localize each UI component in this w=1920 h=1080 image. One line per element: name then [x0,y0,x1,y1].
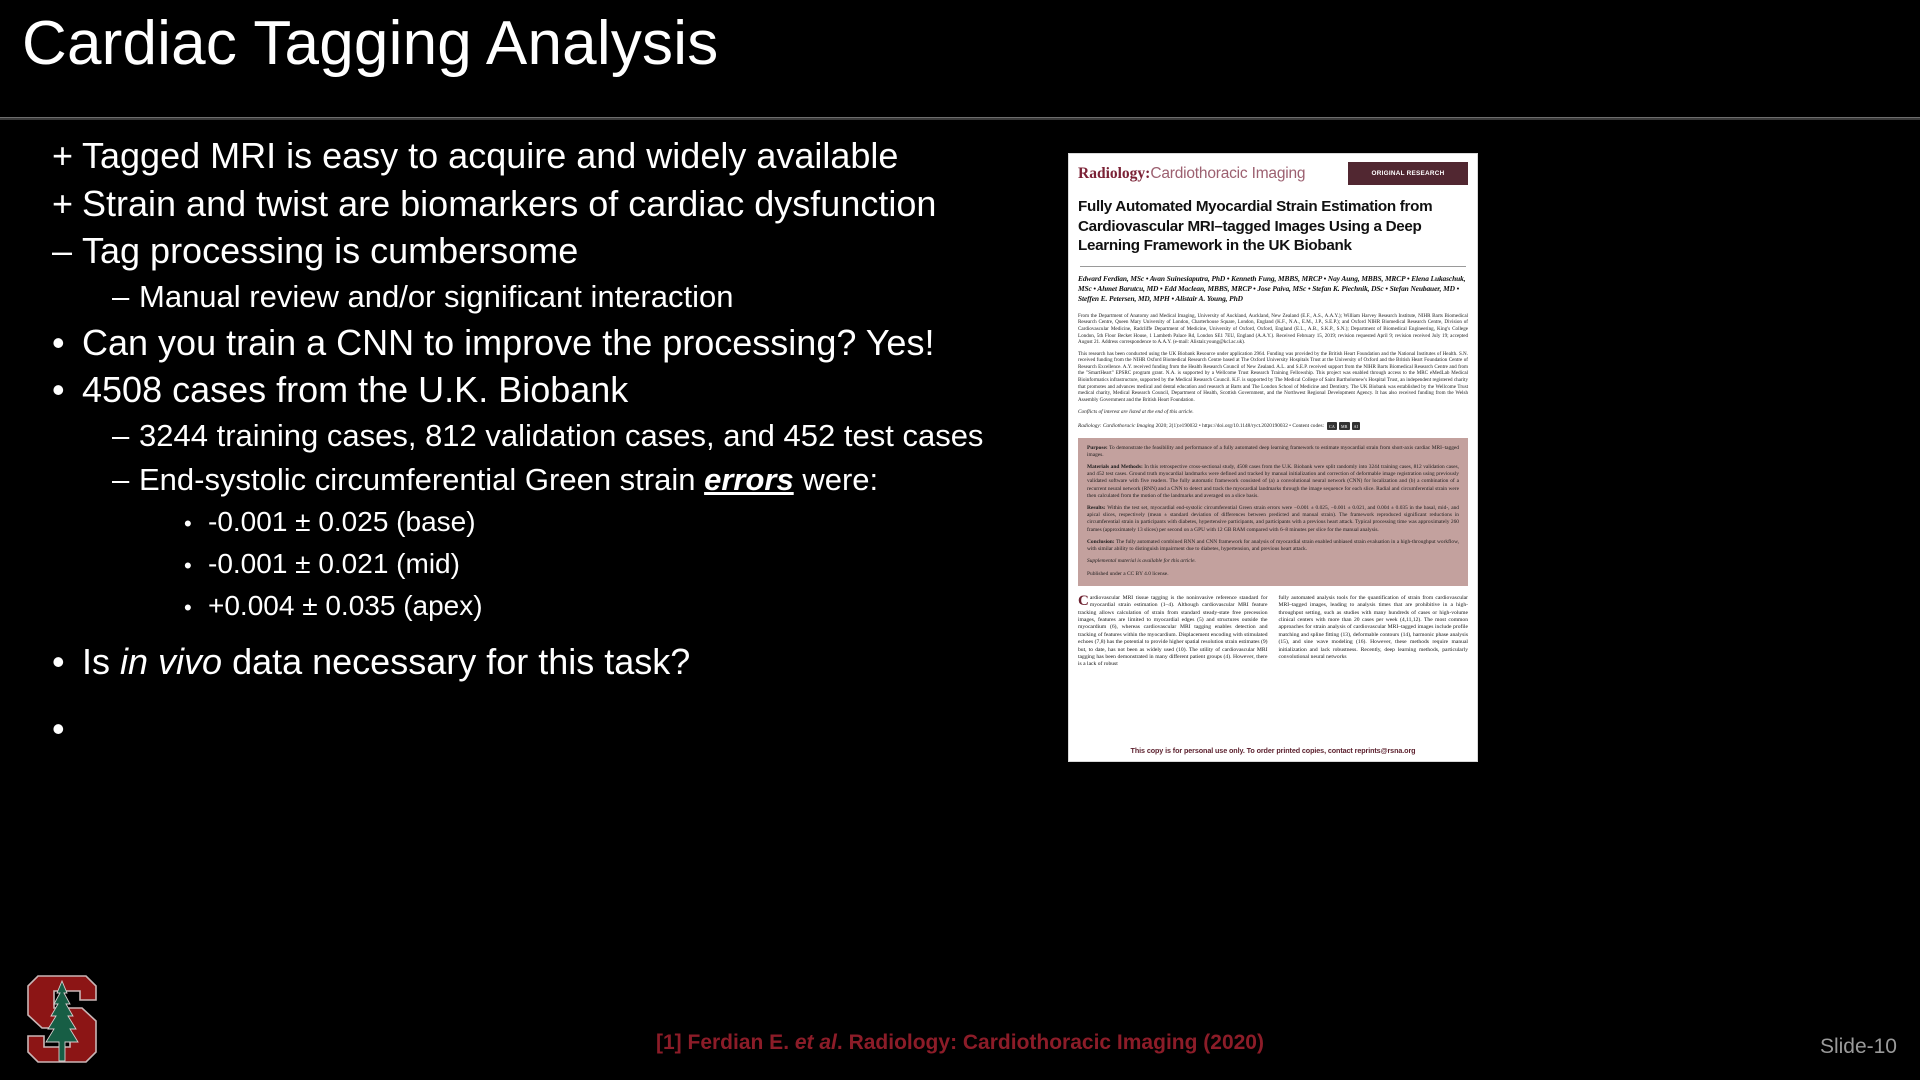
abstract-conclusion: Conclusion: The fully automated combined… [1087,539,1459,553]
paper-body-left-text: ardiovascular MRI tissue tagging is the … [1078,595,1268,668]
paper-body-left-paragraph: Cardiovascular MRI tissue tagging is the… [1078,595,1268,669]
bullet-marker: + [52,132,82,180]
bullet-text-emphasis: errors [704,462,794,497]
drop-cap: C [1078,595,1089,607]
bullet-marker: • [184,546,208,586]
citation-etal: et al [795,1031,837,1054]
bullet-item-strain-apex: • +0.004 ± 0.035 (apex) [52,586,1062,628]
bullet-item: – 3244 training cases, 812 validation ca… [52,414,1062,458]
bullet-spacer [52,685,1062,705]
bullet-marker: – [112,275,139,319]
title-divider [0,117,1920,120]
bullet-text-pre: End-systolic circumferential Green strai… [139,462,704,497]
paper-title-divider [1080,266,1466,267]
bullet-text: Manual review and/or significant interac… [139,275,733,319]
journal-brand: Radiology: [1078,165,1150,183]
bullet-text: Strain and twist are biomarkers of cardi… [82,180,936,228]
citation-journal-name: Radiology: Cardiothoracic Imaging [849,1031,1198,1054]
journal-subtitle: Cardiothoracic Imaging [1150,165,1305,183]
bullet-marker: • [52,319,82,367]
bullet-item-invivo: • Is in vivo data necessary for this tas… [52,638,1062,686]
paper-body-left: Cardiovascular MRI tissue tagging is the… [1078,595,1268,741]
content-code: AI [1352,422,1361,430]
bullet-text-emphasis: in vivo [120,641,222,682]
bullet-list: + Tagged MRI is easy to acquire and wide… [52,132,1062,753]
bullet-item: – Tag processing is cumbersome [52,227,1062,275]
citation-mid: . [837,1031,849,1054]
abstract-label: Conclusion: [1087,539,1115,545]
abstract-body: The fully automated combined RNN and CNN… [1087,539,1459,552]
bullet-marker: – [112,414,139,458]
slide-canvas: Cardiac Tagging Analysis + Tagged MRI is… [0,0,1920,1080]
bullet-marker: – [52,227,82,275]
abstract-results: Results: Within the test set, myocardial… [1087,505,1459,534]
citation-rest: 2020; 2(1):e190032 • https://doi.org/10.… [1154,424,1324,430]
bullet-text-pre: Is [82,641,120,682]
bullet-text: 3244 training cases, 812 validation case… [139,414,983,458]
bullet-marker: + [52,180,82,228]
bullet-marker: • [52,705,82,753]
bullet-marker: • [184,504,208,544]
paper-body-right: fully automated analysis tools for the q… [1279,595,1469,741]
bullet-item-errors: – End-systolic circumferential Green str… [52,458,1062,502]
abstract-purpose: Purpose: To demonstrate the feasibility … [1087,445,1459,459]
bullet-text: Tag processing is cumbersome [82,227,578,275]
bullet-text-post: were: [794,462,878,497]
citation-year: (2020) [1197,1031,1264,1054]
bullet-text: +0.004 ± 0.035 (apex) [208,586,483,626]
abstract-body: In this retrospective cross-sectional st… [1087,464,1459,499]
page-title: Cardiac Tagging Analysis [22,8,718,79]
slide-number: Slide-10 [1820,1035,1897,1059]
bullet-item: • 4508 cases from the U.K. Biobank [52,366,1062,414]
bullet-item: – Manual review and/or significant inter… [52,275,1062,319]
abstract-supplemental: Supplemental material is available for t… [1087,558,1459,565]
bullet-text: Can you train a CNN to improve the proce… [82,319,934,367]
bullet-text: 4508 cases from the U.K. Biobank [82,366,628,414]
paper-footer-notice: This copy is for personal use only. To o… [1078,741,1468,755]
bullet-text: -0.001 ± 0.025 (base) [208,502,476,542]
paper-funding: This research has been conducted using t… [1078,351,1468,404]
abstract-body: To demonstrate the feasibility and perfo… [1087,445,1459,458]
bullet-text: Is in vivo data necessary for this task? [82,638,690,686]
abstract-license: Published under a CC BY 4.0 license. [1087,571,1459,578]
citation-journal: Radiology: Cardiothoracic Imaging [1078,424,1154,430]
bullet-marker: • [52,366,82,414]
citation-prefix: [1] Ferdian E. [656,1031,795,1054]
abstract-label: Results: [1087,505,1106,511]
content-code: CA [1327,422,1337,430]
bullet-item-strain-base: • -0.001 ± 0.025 (base) [52,502,1062,544]
paper-conflicts: Conflicts of interest are listed at the … [1078,409,1468,416]
bullet-item: • Can you train a CNN to improve the pro… [52,319,1062,367]
bullet-item: + Strain and twist are biomarkers of car… [52,180,1062,228]
abstract-label: Purpose: [1087,445,1108,451]
bullet-marker: • [184,588,208,628]
bullet-text: End-systolic circumferential Green strai… [139,458,878,502]
stanford-logo [8,966,116,1074]
masthead-filler [1305,162,1348,185]
abstract-label: Materials and Methods: [1087,464,1143,470]
paper-body-right-text: fully automated analysis tools for the q… [1279,595,1469,662]
content-codes: CAMRAI [1327,422,1360,430]
reference-citation: [1] Ferdian E. et al. Radiology: Cardiot… [0,1031,1920,1055]
paper-citation-line: Radiology: Cardiothoracic Imaging 2020; … [1078,422,1468,430]
bullet-text: Tagged MRI is easy to acquire and widely… [82,132,898,180]
bullet-item-strain-mid: • -0.001 ± 0.021 (mid) [52,544,1062,586]
paper-affiliation: From the Department of Anatomy and Medic… [1078,313,1468,346]
bullet-text: -0.001 ± 0.021 (mid) [208,544,460,584]
bullet-item-empty: • [52,705,1062,753]
journal-name: Radiology:Cardiothoracic Imaging [1078,162,1305,185]
original-research-badge: ORIGINAL RESEARCH [1348,162,1468,185]
paper-body-columns: Cardiovascular MRI tissue tagging is the… [1078,595,1468,741]
content-code: MR [1339,422,1350,430]
paper-masthead: Radiology:Cardiothoracic Imaging ORIGINA… [1078,162,1468,185]
paper-authors: Edward Ferdian, MSc • Avan Suinesiaputra… [1078,274,1468,305]
paper-abstract: Purpose: To demonstrate the feasibility … [1078,438,1468,586]
abstract-methods: Materials and Methods: In this retrospec… [1087,464,1459,500]
bullet-marker: – [112,458,139,502]
paper-title: Fully Automated Myocardial Strain Estima… [1078,197,1468,256]
bullet-item: + Tagged MRI is easy to acquire and wide… [52,132,1062,180]
abstract-body: Within the test set, myocardial end-syst… [1087,505,1459,533]
bullet-marker: • [52,638,82,686]
paper-thumbnail[interactable]: Radiology:Cardiothoracic Imaging ORIGINA… [1069,154,1477,761]
bullet-text-post: data necessary for this task? [222,641,690,682]
